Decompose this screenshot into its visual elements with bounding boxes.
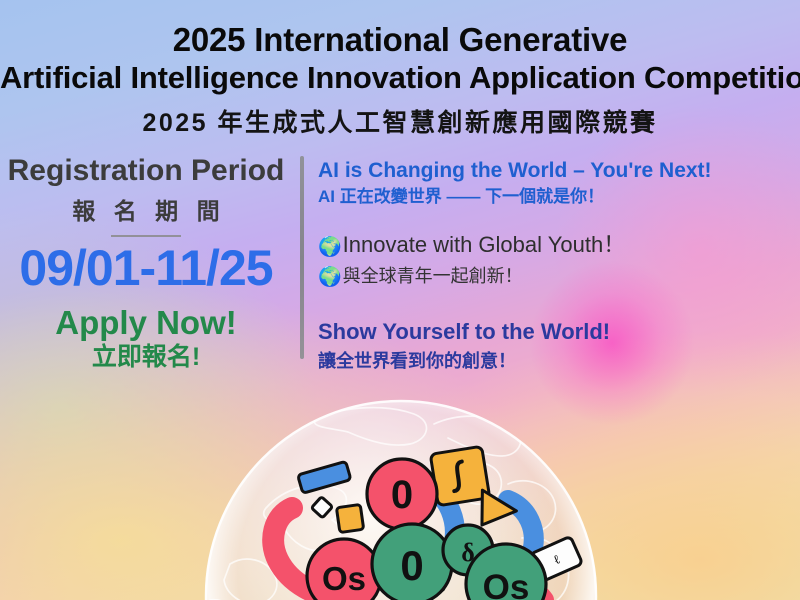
message-2-chinese: 與全球青年一起創新！ [343, 266, 523, 286]
svg-text:0: 0 [400, 542, 423, 589]
message-block-3: Show Yourself to the World! 讓全世界看到你的創意！ [318, 319, 788, 374]
message-3-chinese: 讓全世界看到你的創意！ [318, 349, 788, 373]
message-2-english-row: 🌍Innovate with Global Youth！ [318, 231, 788, 260]
spacer-1 [318, 221, 788, 231]
vertical-divider [300, 156, 304, 359]
registration-dates: 09/01-11/25 [0, 241, 292, 296]
globe-icon: 🌍 [318, 237, 342, 258]
globe-icon: 🌍 [318, 267, 342, 288]
registration-rule [111, 235, 181, 237]
apply-now-cta[interactable]: Apply Now! [0, 306, 292, 341]
message-1-english: AI is Changing the World – You're Next! [318, 158, 788, 183]
poster-canvas: ℓ 0 Os 0 δ Os [0, 0, 800, 600]
svg-text:ℓ: ℓ [551, 551, 563, 567]
svg-text:Os: Os [322, 560, 366, 597]
svg-text:Os: Os [483, 568, 530, 600]
poster-title: 2025 International Generative Artificial… [0, 22, 800, 139]
message-3-english: Show Yourself to the World! [318, 319, 788, 345]
message-block-2: 🌍Innovate with Global Youth！ 🌍與全球青年一起創新！ [318, 231, 788, 290]
spacer-2 [318, 303, 788, 319]
title-line-2: Artificial Intelligence Innovation Appli… [0, 61, 800, 94]
apply-now-cta-chinese[interactable]: 立即報名! [0, 344, 292, 372]
message-1-chinese: AI 正在改變世界 —— 下一個就是你！ [318, 186, 788, 209]
svg-text:0: 0 [391, 473, 413, 517]
registration-heading-chinese: 報 名 期 間 [0, 192, 292, 226]
registration-heading: Registration Period [0, 155, 292, 187]
messages-panel: AI is Changing the World – You're Next! … [318, 158, 788, 385]
svg-text:δ: δ [461, 538, 475, 567]
message-block-1: AI is Changing the World – You're Next! … [318, 158, 788, 209]
title-line-1: 2025 International Generative [0, 22, 800, 58]
message-2-english: Innovate with Global Youth！ [343, 232, 626, 257]
globe-illustration: ℓ 0 Os 0 δ Os [196, 388, 606, 600]
registration-panel: Registration Period 報 名 期 間 09/01-11/25 … [0, 155, 292, 372]
title-line-chinese: 2025 年生成式人工智慧創新應用國際競賽 [0, 103, 800, 139]
message-2-chinese-row: 🌍與全球青年一起創新！ [318, 265, 788, 291]
